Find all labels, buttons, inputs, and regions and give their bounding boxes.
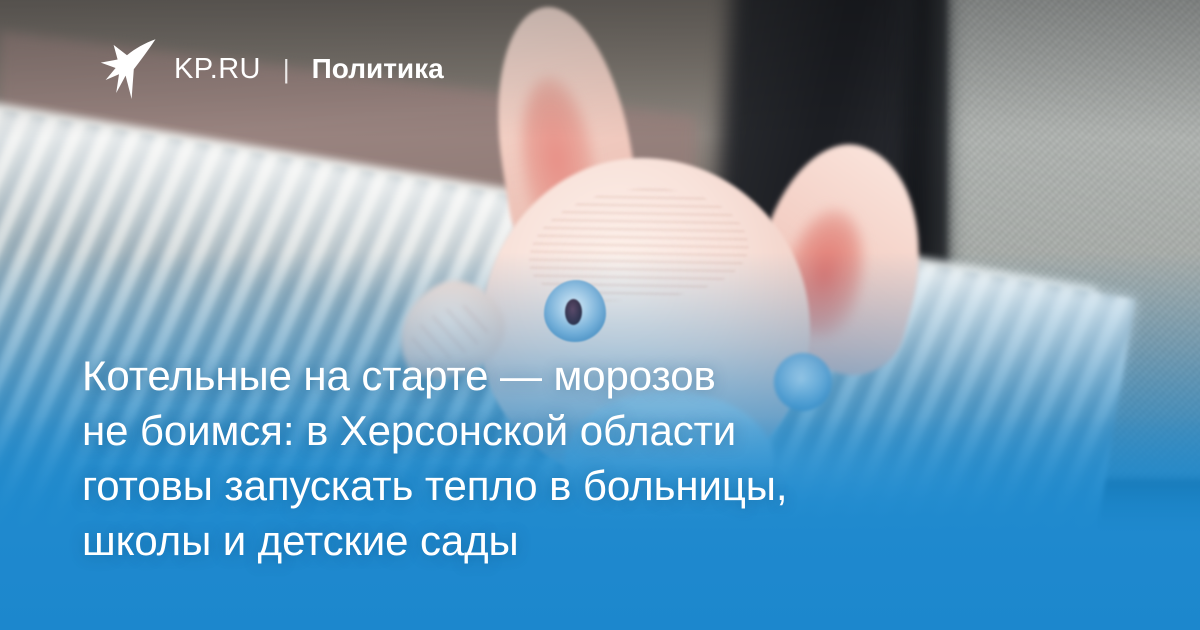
header-divider: | [283,54,290,85]
headline-line-2: не боимся: в Херсонской области [82,403,1000,458]
article-headline: Котельные на старте — морозов не боимся:… [82,348,1000,568]
social-share-card: KP.RU | Политика Котельные на старте — м… [0,0,1200,630]
swallow-bird-logo-icon[interactable] [100,38,156,100]
headline-line-3: готовы запускать тепло в больницы, [82,458,1000,513]
rubric-label[interactable]: Политика [312,53,444,85]
headline-line-4: школы и детские сады [82,513,1000,568]
brand-name[interactable]: KP.RU [174,53,261,86]
headline-line-1: Котельные на старте — морозов [82,348,1000,403]
site-header: KP.RU | Политика [100,38,444,100]
